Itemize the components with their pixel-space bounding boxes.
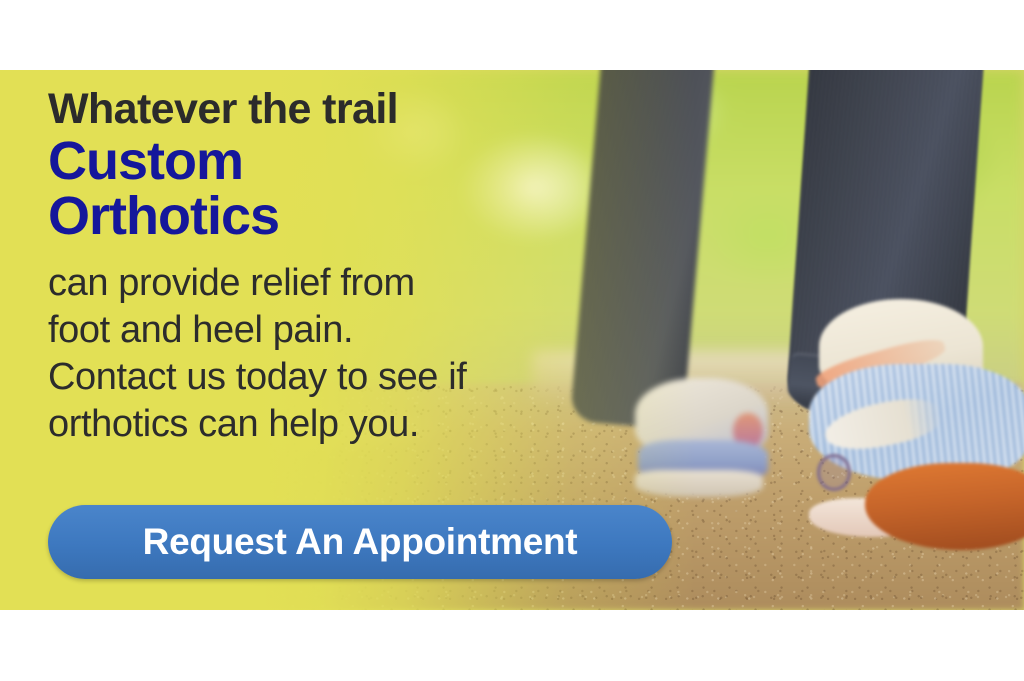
request-appointment-button[interactable]: Request An Appointment [48, 505, 672, 579]
page-title: Custom Orthotics [48, 134, 708, 244]
front-running-shoe [809, 329, 1024, 545]
body-line-4: orthotics can help you. [48, 401, 708, 448]
cta-container: Request An Appointment [48, 505, 672, 579]
body-line-1: can provide relief from [48, 260, 708, 307]
eyebrow-text: Whatever the trail [48, 88, 708, 132]
front-shoe-outsole [865, 463, 1024, 549]
banner-copy-block: Whatever the trail Custom Orthotics can … [48, 88, 708, 448]
body-copy: can provide relief from foot and heel pa… [48, 260, 708, 448]
headline-line-2: Orthotics [48, 189, 708, 244]
promo-banner: Whatever the trail Custom Orthotics can … [0, 70, 1024, 610]
page-canvas: Whatever the trail Custom Orthotics can … [0, 0, 1024, 681]
front-shoe-lace-eyelet [817, 454, 851, 490]
body-line-3: Contact us today to see if [48, 354, 708, 401]
headline-line-1: Custom [48, 134, 708, 189]
body-line-2: foot and heel pain. [48, 307, 708, 354]
